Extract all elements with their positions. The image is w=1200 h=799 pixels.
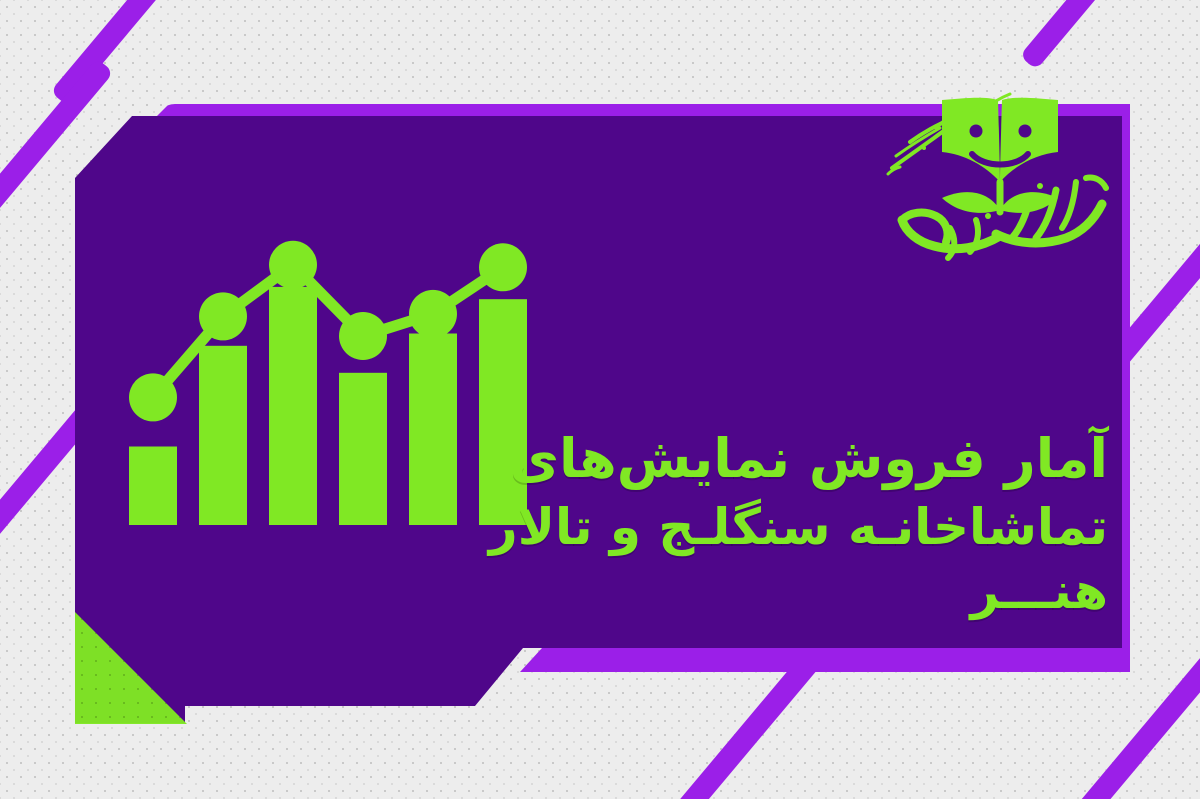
stripe-top-right [1019,0,1190,70]
chart-line-marker [129,373,177,421]
chart-line-marker [269,241,317,289]
chart-bar [129,447,177,526]
title-line-1: آمار فروش نمایش‌های [488,424,1108,493]
chart-bar [199,346,247,525]
chart-bar [269,287,317,525]
chart-bar [409,334,457,526]
organization-calligraphy [902,177,1106,258]
chart-bars [129,287,527,525]
organization-logo [880,70,1110,265]
chart-line-marker [339,312,387,360]
title-line-2: تماشاخانـه سنگلـج و تالار هنـــر [488,495,1108,623]
poster-canvas: آمار فروش نمایش‌های تماشاخانـه سنگلـج و … [0,0,1200,799]
chart-line-marker [409,290,457,338]
accent-band-bottom [520,648,1130,672]
page-title: آمار فروش نمایش‌های تماشاخانـه سنگلـج و … [488,424,1108,623]
chart-trend-line [129,241,527,422]
chart-bar [339,373,387,525]
bar-chart-illustration [118,250,538,540]
stripe-top-left [50,0,228,106]
chart-line-marker [199,292,247,340]
chart-line-marker [479,243,527,291]
